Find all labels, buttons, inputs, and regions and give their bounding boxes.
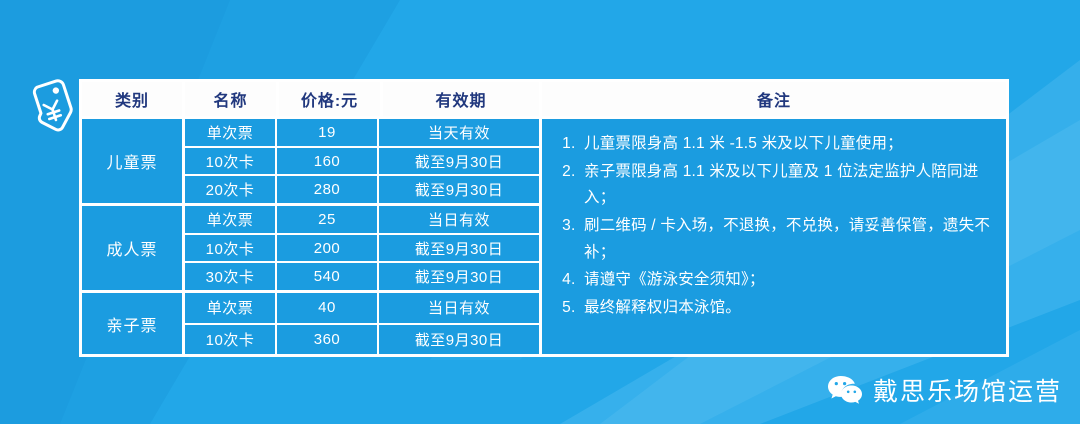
category-label-family: 亲子票 xyxy=(82,293,185,354)
list-item: 刷二维码 / 卡入场，不退换，不兑换，请妥善保管，遗失不补； xyxy=(580,213,992,266)
table-header-row: 类别 名称 价格:元 有效期 备注 xyxy=(82,82,1006,116)
table-row: 单次票 19 当天有效 xyxy=(185,119,539,148)
list-item: 亲子票限身高 1.1 米及以下儿童及 1 位法定监护人陪同进入； xyxy=(580,159,992,212)
category-label-child: 儿童票 xyxy=(82,119,185,203)
header-remarks: 备注 xyxy=(542,82,1006,116)
poster-canvas: 类别 名称 价格:元 有效期 备注 儿童票 单次票 19 当天有效 xyxy=(0,0,1080,424)
cell-name: 30次卡 xyxy=(185,263,277,290)
cell-name: 单次票 xyxy=(185,293,277,323)
cell-validity: 当天有效 xyxy=(379,119,539,146)
cell-name: 10次卡 xyxy=(185,148,277,175)
table-row: 30次卡 540 截至9月30日 xyxy=(185,263,539,290)
remarks-list: 儿童票限身高 1.1 米 -1.5 米及以下儿童使用； 亲子票限身高 1.1 米… xyxy=(558,131,992,323)
table-row: 10次卡 200 截至9月30日 xyxy=(185,235,539,264)
cell-validity: 截至9月30日 xyxy=(379,235,539,262)
cell-price: 25 xyxy=(277,206,379,233)
ticket-data-grid: 儿童票 单次票 19 当天有效 10次卡 160 截至9月30日 xyxy=(82,119,542,354)
cell-validity: 截至9月30日 xyxy=(379,325,539,355)
cell-name: 10次卡 xyxy=(185,325,277,355)
cell-name: 10次卡 xyxy=(185,235,277,262)
table-row: 单次票 40 当日有效 xyxy=(185,293,539,325)
brand-name: 戴思乐场馆运营 xyxy=(873,372,1062,408)
cell-name: 单次票 xyxy=(185,206,277,233)
brand-footer: 戴思乐场馆运营 xyxy=(827,372,1062,408)
ticket-group-family: 亲子票 单次票 40 当日有效 10次卡 360 截至9月30日 xyxy=(82,293,539,354)
cell-validity: 当日有效 xyxy=(379,293,539,323)
header-validity: 有效期 xyxy=(383,82,542,116)
cell-price: 160 xyxy=(277,148,379,175)
list-item: 儿童票限身高 1.1 米 -1.5 米及以下儿童使用； xyxy=(580,131,992,158)
list-item: 请遵守《游泳安全须知》； xyxy=(580,267,992,294)
cell-price: 40 xyxy=(277,293,379,323)
cell-price: 360 xyxy=(277,325,379,355)
table-body: 儿童票 单次票 19 当天有效 10次卡 160 截至9月30日 xyxy=(82,116,1006,354)
ticket-group-child: 儿童票 单次票 19 当天有效 10次卡 160 截至9月30日 xyxy=(82,119,539,206)
cell-validity: 截至9月30日 xyxy=(379,148,539,175)
cell-name: 单次票 xyxy=(185,119,277,146)
cell-price: 19 xyxy=(277,119,379,146)
category-label-adult: 成人票 xyxy=(82,206,185,290)
ticket-group-adult: 成人票 单次票 25 当日有效 10次卡 200 截至9月30日 xyxy=(82,206,539,293)
table-row: 单次票 25 当日有效 xyxy=(185,206,539,235)
cell-validity: 截至9月30日 xyxy=(379,176,539,203)
list-item: 最终解释权归本泳馆。 xyxy=(580,295,992,322)
remarks-cell: 儿童票限身高 1.1 米 -1.5 米及以下儿童使用； 亲子票限身高 1.1 米… xyxy=(542,119,1006,354)
table-row: 10次卡 360 截至9月30日 xyxy=(185,325,539,355)
header-price: 价格:元 xyxy=(279,82,383,116)
table-row: 20次卡 280 截至9月30日 xyxy=(185,176,539,203)
wechat-icon xyxy=(827,374,863,406)
cell-name: 20次卡 xyxy=(185,176,277,203)
price-tag-icon xyxy=(30,74,84,140)
cell-price: 280 xyxy=(277,176,379,203)
table-row: 10次卡 160 截至9月30日 xyxy=(185,148,539,177)
pricing-table: 类别 名称 价格:元 有效期 备注 儿童票 单次票 19 当天有效 xyxy=(79,79,1009,357)
cell-validity: 当日有效 xyxy=(379,206,539,233)
cell-price: 200 xyxy=(277,235,379,262)
cell-price: 540 xyxy=(277,263,379,290)
header-category: 类别 xyxy=(82,82,185,116)
header-name: 名称 xyxy=(185,82,279,116)
cell-validity: 截至9月30日 xyxy=(379,263,539,290)
